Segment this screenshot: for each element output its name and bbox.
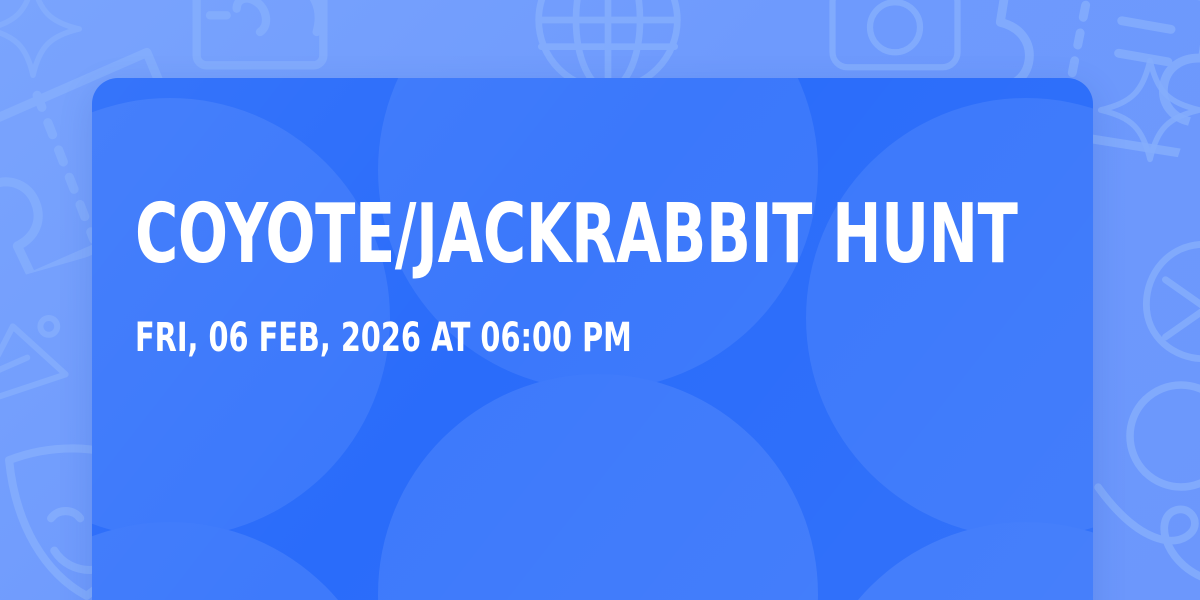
sparkle-icon xyxy=(0,0,88,84)
decorative-circle xyxy=(92,522,390,600)
confetti-icon xyxy=(0,300,80,420)
event-banner: COYOTE/JACKRABBIT HUNT FRI, 06 FEB, 2026… xyxy=(0,0,1200,600)
camera-icon xyxy=(820,0,970,86)
swirl-icon xyxy=(1092,468,1200,600)
arrow-icon xyxy=(1124,376,1200,526)
event-card: COYOTE/JACKRABBIT HUNT FRI, 06 FEB, 2026… xyxy=(92,78,1093,600)
balloon-icon xyxy=(1130,232,1200,412)
sparkle-icon xyxy=(1094,54,1200,166)
card-content: COYOTE/JACKRABBIT HUNT FRI, 06 FEB, 2026… xyxy=(135,196,1033,358)
decorative-circle xyxy=(806,522,1093,600)
event-datetime: FRI, 06 FEB, 2026 AT 06:00 PM xyxy=(135,318,853,358)
decorative-circle xyxy=(378,374,818,600)
event-title: COYOTE/JACKRABBIT HUNT xyxy=(135,196,853,275)
